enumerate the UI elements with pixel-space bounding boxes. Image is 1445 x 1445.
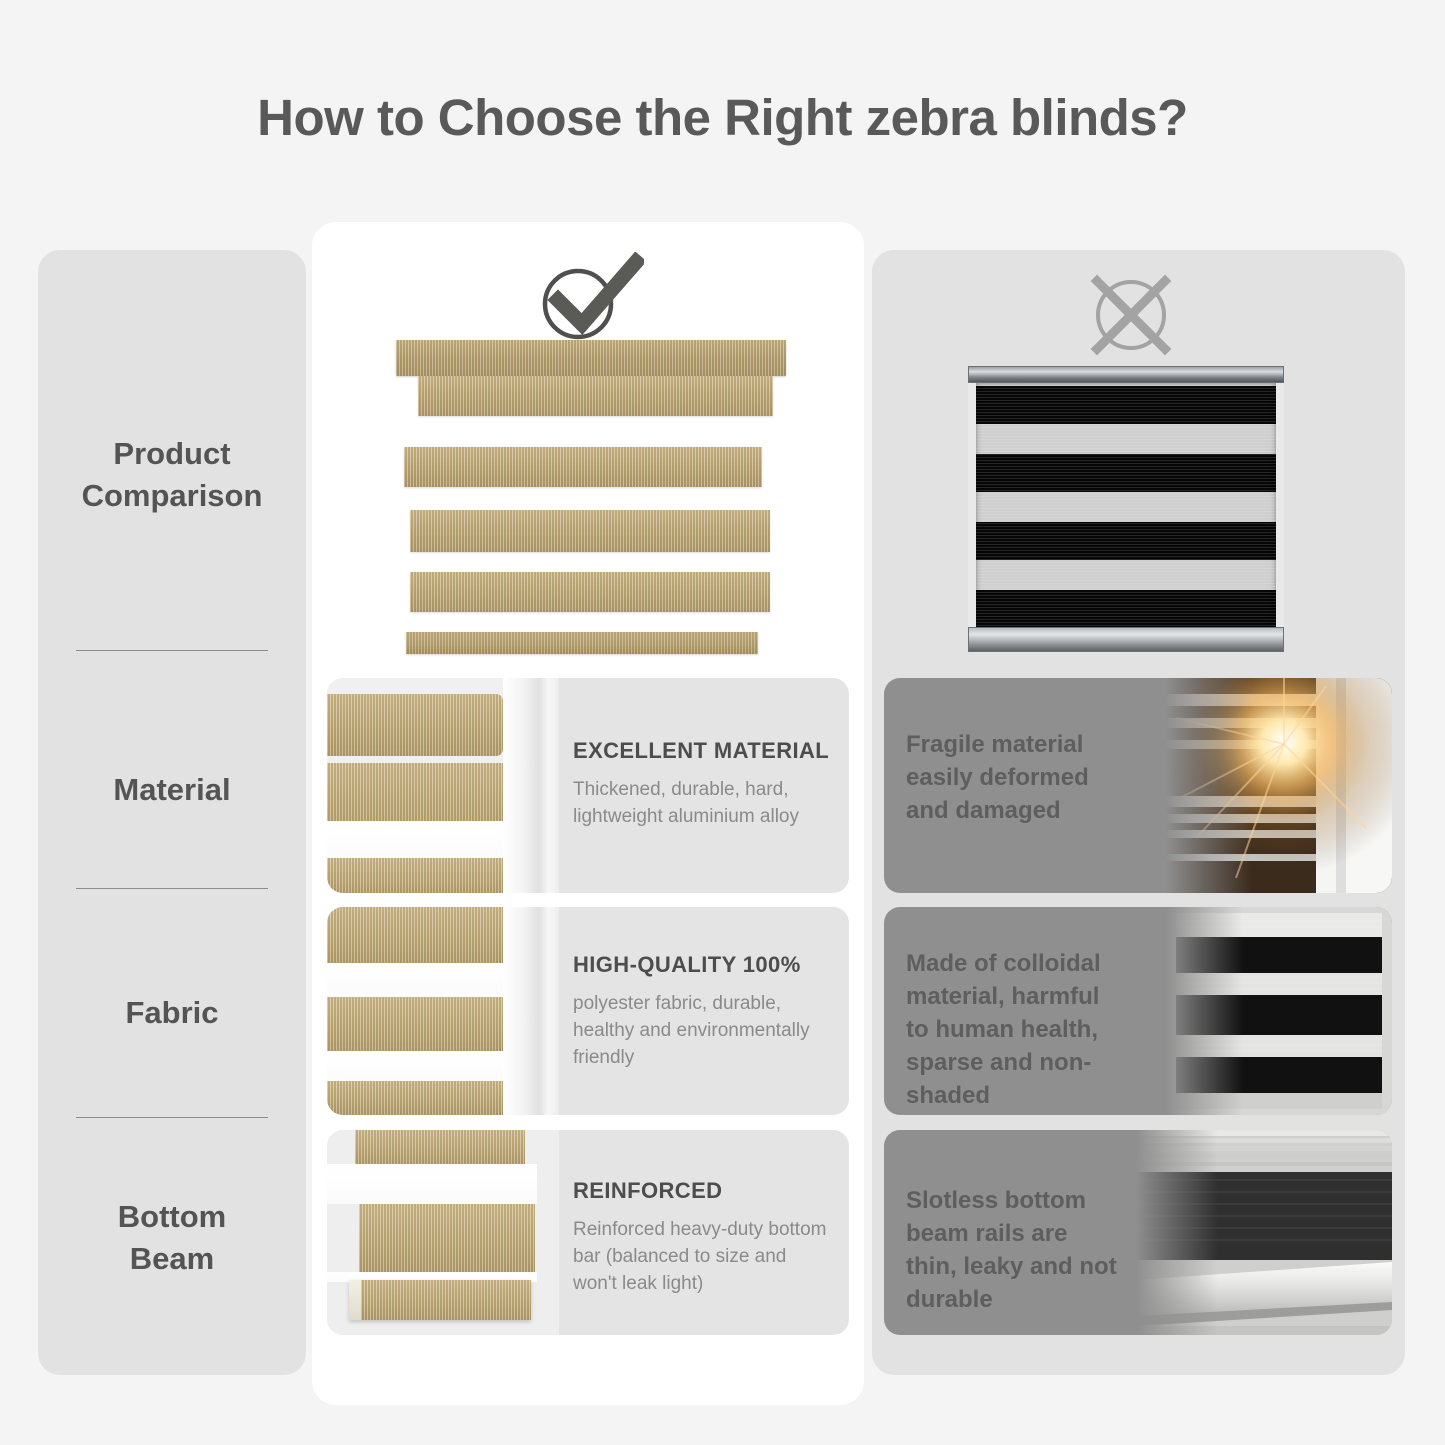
page-title: How to Choose the Right zebra blinds? <box>0 88 1445 147</box>
blind-slat <box>404 447 762 487</box>
card-text: Made of colloidal material, harmful to h… <box>906 947 1121 1113</box>
blind-slat <box>410 572 770 612</box>
bad-card-bottom-beam: Slotless bottom beam rails are thin, lea… <box>884 1130 1392 1335</box>
sidebar-divider <box>76 888 268 889</box>
card-title: EXCELLENT MATERIAL <box>573 738 831 764</box>
card-title: REINFORCED <box>573 1178 831 1204</box>
sidebar-item-material: Material <box>38 755 306 825</box>
card-text: Fragile material easily deformed and dam… <box>906 728 1121 827</box>
bad-card-material: Fragile material easily deformed and dam… <box>884 678 1392 893</box>
good-card-material: EXCELLENT MATERIAL Thickened, durable, h… <box>327 678 849 893</box>
sidebar-divider <box>76 650 268 651</box>
check-circle-icon <box>534 252 644 344</box>
headrail <box>396 340 786 376</box>
card-text-block: REINFORCED Reinforced heavy-duty bottom … <box>573 1178 831 1298</box>
bad-card-fabric: Made of colloidal material, harmful to h… <box>884 907 1392 1115</box>
card-text-block: HIGH-QUALITY 100% polyester fabric, dura… <box>573 952 831 1072</box>
headrail <box>968 366 1284 383</box>
blind-slat <box>410 510 770 552</box>
card-title: HIGH-QUALITY 100% <box>573 952 831 978</box>
card-text: Slotless bottom beam rails are thin, lea… <box>906 1184 1121 1316</box>
sidebar-label-text: Bottom Beam <box>118 1196 226 1280</box>
sidebar-item-product-comparison: Product Comparison <box>38 415 306 535</box>
sidebar-item-bottom-beam: Bottom Beam <box>38 1178 306 1298</box>
good-card-bottom-beam: REINFORCED Reinforced heavy-duty bottom … <box>327 1130 849 1335</box>
card-description: polyester fabric, durable, healthy and e… <box>573 991 831 1072</box>
card-text-block: EXCELLENT MATERIAL Thickened, durable, h… <box>573 738 831 831</box>
good-hero-product-image <box>396 340 786 662</box>
blind-fabric <box>976 383 1276 628</box>
good-card-fabric: HIGH-QUALITY 100% polyester fabric, dura… <box>327 907 849 1115</box>
sidebar-label-text: Fabric <box>125 992 218 1034</box>
card-artwork <box>327 907 559 1115</box>
sidebar-label-text: Material <box>113 769 230 811</box>
card-artwork <box>1166 907 1392 1115</box>
card-artwork <box>327 678 559 893</box>
card-description: Reinforced heavy-duty bottom bar (balanc… <box>573 1217 831 1298</box>
card-artwork <box>327 1130 559 1335</box>
card-artwork <box>1166 678 1392 893</box>
card-description: Thickened, durable, hard, lightweight al… <box>573 777 831 831</box>
bottom-bar <box>406 632 758 654</box>
bottom-bar <box>968 627 1284 652</box>
bad-hero-product-image <box>968 366 1284 652</box>
sidebar-divider <box>76 1117 268 1118</box>
blind-slat <box>418 376 773 416</box>
sidebar-item-fabric: Fabric <box>38 978 306 1048</box>
sidebar-label-text: Product Comparison <box>82 433 263 517</box>
card-artwork <box>1136 1130 1392 1335</box>
x-circle-icon <box>1084 268 1178 362</box>
